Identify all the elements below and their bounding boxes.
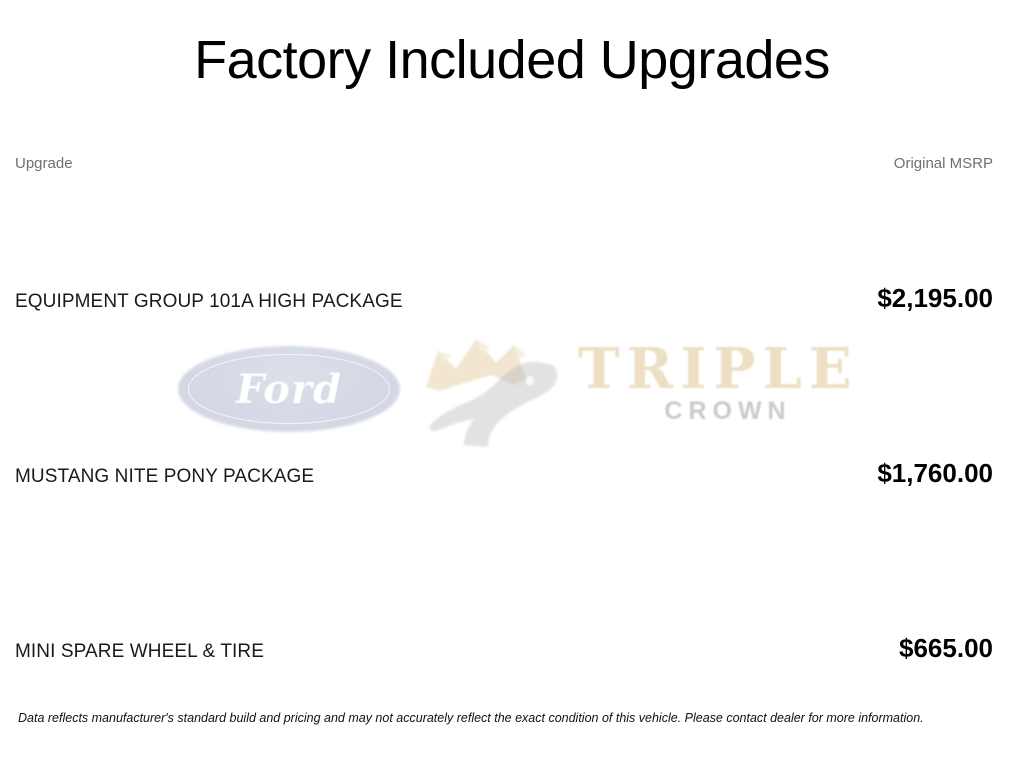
upgrade-name: MUSTANG NITE PONY PACKAGE	[15, 364, 314, 488]
table-row: MUSTANG NITE PONY PACKAGE $1,760.00	[15, 360, 993, 535]
upgrades-table: Upgrade Original MSRP EQUIPMENT GROUP 10…	[15, 155, 993, 710]
upgrade-price: $2,195.00	[877, 185, 993, 314]
column-header-original-msrp: Original MSRP	[894, 155, 993, 172]
column-header-upgrade: Upgrade	[15, 155, 73, 172]
upgrade-name: MINI SPARE WHEEL & TIRE	[15, 539, 264, 663]
table-row: MINI SPARE WHEEL & TIRE $665.00	[15, 535, 993, 710]
factory-upgrades-page: Factory Included Upgrades Ford TRIPLE CR…	[0, 0, 1024, 768]
table-row: EQUIPMENT GROUP 101A HIGH PACKAGE $2,195…	[15, 185, 993, 360]
table-body: EQUIPMENT GROUP 101A HIGH PACKAGE $2,195…	[15, 185, 993, 710]
page-title: Factory Included Upgrades	[0, 32, 1024, 89]
upgrade-name: EQUIPMENT GROUP 101A HIGH PACKAGE	[15, 189, 403, 313]
table-header-row: Upgrade Original MSRP	[15, 155, 993, 185]
upgrade-price: $665.00	[899, 535, 993, 664]
disclaimer-text: Data reflects manufacturer's standard bu…	[18, 710, 1006, 726]
upgrade-price: $1,760.00	[877, 360, 993, 489]
